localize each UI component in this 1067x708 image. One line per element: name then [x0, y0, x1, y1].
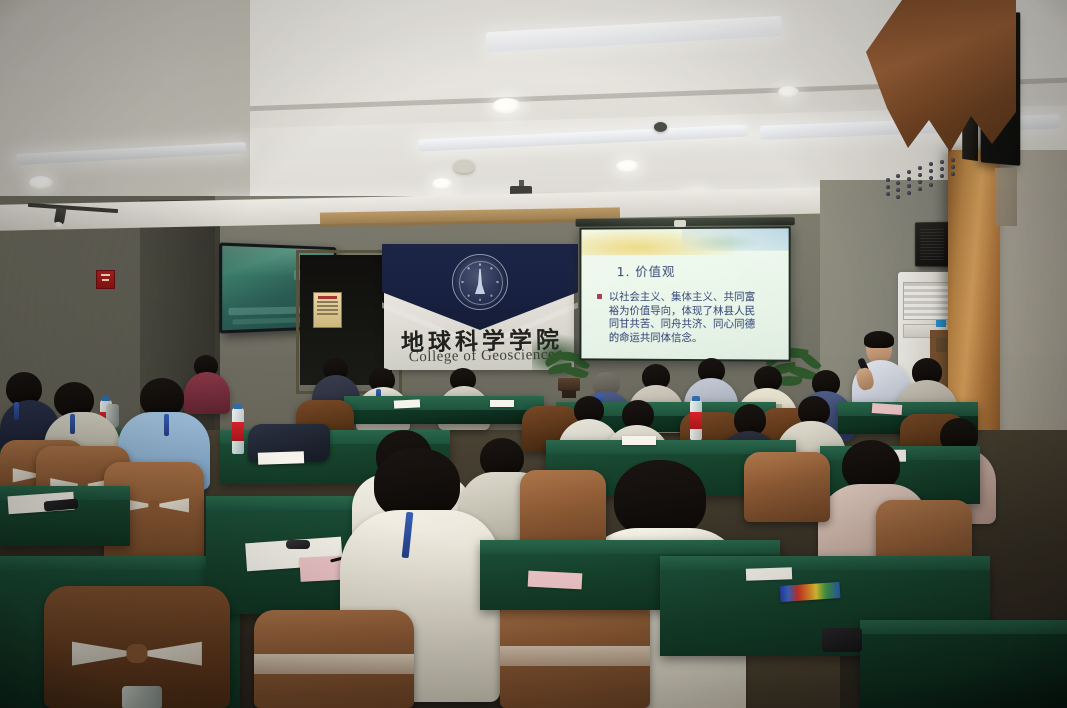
paper-sheet [394, 399, 420, 408]
phone-accessory [286, 540, 310, 549]
slide-title: 1. 价值观 [617, 261, 676, 280]
bottle-cap [692, 396, 700, 401]
slide-line: 同甘共苦、同舟共济、同心同德 [609, 318, 779, 332]
slide-body-text: 以社会主义、集体主义、共同富 裕为价值导向，体现了林县人民 同甘共苦、同舟共济、… [609, 291, 779, 346]
chair-bow-knot [127, 644, 148, 663]
chair-sash [500, 646, 650, 666]
university-emblem-icon [452, 254, 508, 310]
smartphone [822, 628, 862, 652]
chair-bow-knot [148, 500, 159, 511]
smoke-detector-icon [454, 160, 474, 173]
paper-sheet [746, 567, 792, 581]
table-surface [480, 540, 780, 554]
bottle-label [690, 412, 702, 429]
paper-sheet [258, 451, 304, 465]
paper-sheet [528, 571, 583, 590]
bottle-label [232, 422, 244, 441]
paper-sheet [622, 436, 656, 445]
downlight-icon [616, 160, 640, 173]
conference-table [344, 396, 544, 424]
ac-grille [903, 282, 949, 320]
chair-sash [157, 496, 189, 514]
slide-watercolor-blue [682, 228, 789, 251]
downlight-icon [432, 178, 453, 190]
presentation-slide: 1. 价值观 以社会主义、集体主义、共同富 裕为价值导向，体现了林县人民 同甘共… [581, 228, 788, 359]
chair [254, 610, 414, 708]
lanyard [164, 414, 169, 436]
thermos-flask [122, 686, 162, 708]
smoke-detector-icon [654, 122, 667, 132]
slide-bullet-marker [597, 294, 602, 299]
ceiling-shadow-left [0, 0, 250, 205]
paper-sheet [872, 403, 903, 415]
lanyard [70, 414, 75, 434]
downlight-icon [492, 98, 522, 115]
table-surface [860, 620, 1067, 634]
chair-sash [254, 654, 414, 674]
paper-sheet [490, 400, 514, 407]
conference-table [860, 620, 1067, 708]
wall-speaker [915, 222, 950, 268]
table-surface [838, 402, 978, 416]
lanyard [14, 402, 19, 420]
chair [500, 594, 650, 708]
chair [744, 452, 830, 522]
downlight-icon [29, 176, 53, 189]
ac-badge-icon [936, 320, 946, 327]
wall-notice-board [313, 292, 342, 328]
table-surface [0, 556, 240, 570]
downlight-icon [778, 86, 799, 98]
chair-sash [142, 638, 202, 668]
table-surface [344, 396, 544, 410]
water-bottle [690, 400, 702, 440]
fire-alarm-sign [96, 270, 115, 289]
conference-room-photo: 地球科学学院 College of Geoscience 1. 价值观 [0, 0, 1067, 708]
slide-line: 裕为价值导向，体现了林县人民 [609, 305, 779, 319]
beaded-fringe [880, 160, 1010, 220]
projection-screen: 1. 价值观 以社会主义、集体主义、共同富 裕为价值导向，体现了林县人民 同甘共… [579, 226, 790, 361]
table-surface [660, 556, 990, 570]
slide-line: 以社会主义、集体主义、共同富 [609, 291, 779, 305]
oil-derrick-icon [475, 269, 485, 295]
bottle-cap [234, 404, 242, 409]
water-bottle [232, 408, 244, 454]
chair-sash [72, 638, 132, 668]
slide-line: 的命运共同体信念。 [609, 332, 779, 346]
